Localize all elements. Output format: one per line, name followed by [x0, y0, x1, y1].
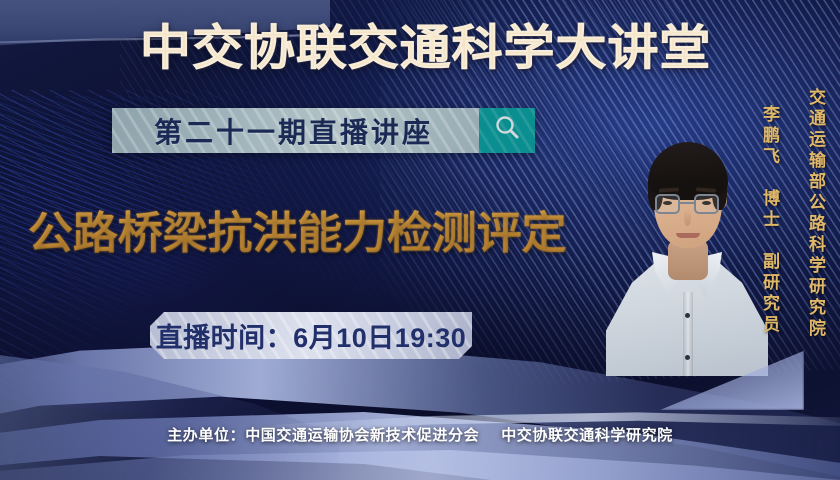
session-search-bar[interactable]: 第二十一期直播讲座 — [112, 108, 535, 153]
session-label: 第二十一期直播讲座 — [154, 111, 437, 151]
broadcast-time-badge: 直播时间：6月10日19:30 — [150, 312, 472, 359]
footer-organizers: 主办单位：中国交通运输协会新技术促进分会中交协联交通科学研究院 — [0, 424, 840, 445]
lecture-title: 公路桥梁抗洪能力检测评定 — [28, 206, 640, 262]
portrait-shirt-button-top — [685, 313, 690, 318]
live-lecture-poster: 中交协联交通科学大讲堂 第二十一期直播讲座 公路桥梁抗洪能力检测评定 直播时间：… — [0, 0, 840, 480]
speaker-organization: 交通运输部公路科学研究院 — [803, 88, 828, 340]
session-search-field[interactable]: 第二十一期直播讲座 — [112, 108, 479, 153]
portrait-nose — [684, 210, 691, 226]
portrait-mouth — [676, 233, 700, 238]
search-button[interactable] — [479, 108, 535, 153]
speaker-name-title: 李鹏飞 博士 副研究员 — [757, 105, 782, 336]
search-icon — [492, 113, 522, 148]
portrait-shirt-button-bottom — [685, 355, 690, 360]
footer-organizer-secondary: 中交协联交通科学研究院 — [501, 427, 673, 444]
footer-organizer-primary: 主办单位：中国交通运输协会新技术促进分会 — [167, 427, 479, 444]
portrait-shirt-placket — [683, 292, 693, 376]
page-title: 中交协联交通科学大讲堂 — [140, 18, 734, 80]
glasses-lens-left-icon — [655, 194, 680, 214]
glasses-lens-right-icon — [694, 194, 719, 214]
glasses-bridge-icon — [680, 202, 694, 204]
broadcast-time-text: 直播时间：6月10日19:30 — [156, 316, 467, 355]
speaker-portrait — [604, 118, 770, 376]
